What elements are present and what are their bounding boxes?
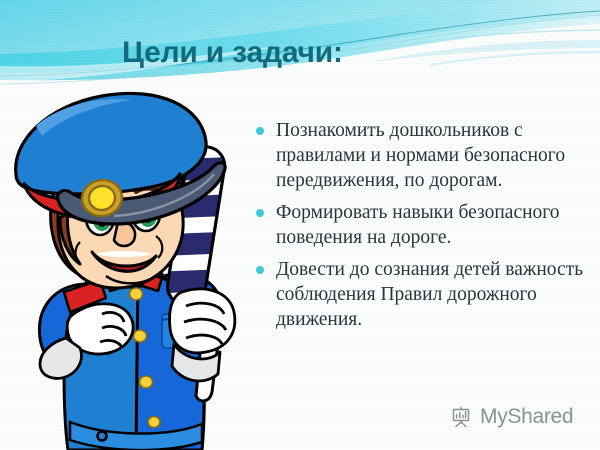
list-item: Довести до сознания детей важность соблю…	[252, 257, 592, 332]
list-item-text: Формировать навыки безопасного поведения…	[276, 202, 560, 248]
myshared-watermark: MyShared	[450, 405, 573, 429]
objectives-list: Познакомить дошкольников с правилами и н…	[252, 118, 592, 339]
bullet-dot-icon	[256, 127, 264, 135]
cartoon-traffic-police-boy-illustration	[6, 70, 258, 450]
list-item-text: Довести до сознания детей важность соблю…	[276, 259, 583, 330]
bullet-dot-icon	[256, 266, 264, 274]
watermark-label: MyShared	[480, 405, 573, 429]
list-item: Формировать навыки безопасного поведения…	[252, 200, 592, 250]
slide-title: Цели и задачи:	[122, 36, 343, 70]
bullet-dot-icon	[256, 209, 264, 217]
presentation-chart-icon	[450, 405, 474, 429]
list-item-text: Познакомить дошкольников с правилами и н…	[276, 120, 565, 191]
slide-canvas: Цели и задачи: Познакомить дошкольников …	[0, 0, 600, 450]
list-item: Познакомить дошкольников с правилами и н…	[252, 118, 592, 193]
